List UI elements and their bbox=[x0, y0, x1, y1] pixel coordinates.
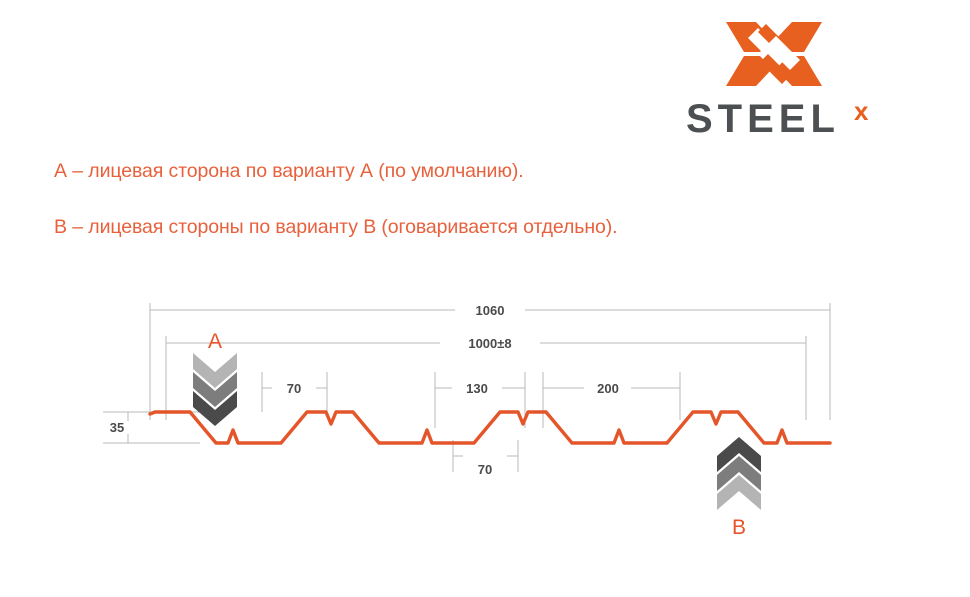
side-a-marker: А bbox=[193, 330, 237, 426]
side-a-letter: А bbox=[208, 330, 222, 353]
profile-cross-section-path bbox=[150, 412, 830, 443]
dim-label-1000: 1000±8 bbox=[468, 336, 511, 351]
dim-label-70-bottom: 70 bbox=[478, 462, 492, 477]
profile-drawing: 1060 1000±8 70 130 200 70 35 А В bbox=[0, 0, 970, 597]
dim-label-200: 200 bbox=[597, 381, 619, 396]
dim-label-70-top: 70 bbox=[287, 381, 301, 396]
side-b-letter: В bbox=[732, 516, 746, 539]
dim-label-35: 35 bbox=[110, 420, 124, 435]
dim-label-130: 130 bbox=[466, 381, 488, 396]
side-b-marker: В bbox=[717, 437, 761, 539]
dim-label-1060: 1060 bbox=[476, 303, 505, 318]
